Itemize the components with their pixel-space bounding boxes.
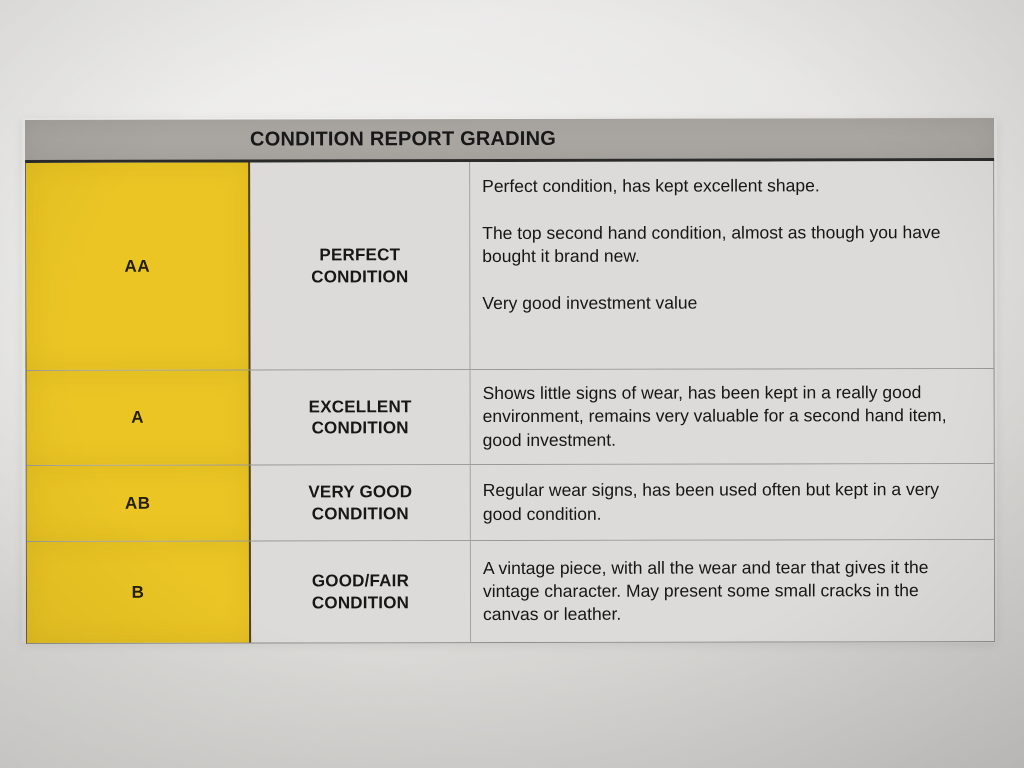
condition-label: GOOD/FAIRCONDITION [312, 570, 409, 613]
description-cell-b: A vintage piece, with all the wear and t… [471, 540, 994, 642]
table-header: CONDITION REPORT GRADING [25, 118, 994, 163]
table-row: AA PERFECTCONDITION Perfect condition, h… [26, 161, 993, 371]
description-paragraph: The top second hand condition, almost as… [482, 221, 977, 268]
condition-cell-a: EXCELLENTCONDITION [251, 370, 471, 464]
description-cell-aa: Perfect condition, has kept excellent sh… [470, 161, 993, 369]
condition-cell-aa: PERFECTCONDITION [250, 162, 470, 369]
description-cell-ab: Regular wear signs, has been used often … [471, 464, 994, 540]
table-body: AA PERFECTCONDITION Perfect condition, h… [25, 161, 995, 644]
condition-label-line1: EXCELLENT [309, 397, 412, 416]
table-row: A EXCELLENTCONDITION Shows little signs … [27, 369, 994, 466]
grade-label: AA [125, 256, 151, 276]
description-paragraph: Regular wear signs, has been used often … [483, 478, 978, 525]
condition-label: EXCELLENTCONDITION [309, 396, 412, 439]
condition-label-line1: GOOD/FAIR [312, 571, 409, 590]
condition-label-line1: VERY GOOD [308, 482, 412, 501]
condition-label-line2: CONDITION [312, 504, 409, 523]
condition-label: VERY GOODCONDITION [308, 481, 412, 524]
grade-cell-aa: AA [26, 163, 250, 370]
description-paragraph: Very good investment value [482, 291, 977, 315]
condition-label-line1: PERFECT [319, 245, 400, 264]
page-title: CONDITION REPORT GRADING [250, 127, 556, 151]
description-cell-a: Shows little signs of wear, has been kep… [471, 369, 994, 464]
condition-label-line2: CONDITION [312, 418, 409, 437]
grade-cell-ab: AB [27, 466, 251, 541]
grade-cell-a: A [27, 371, 251, 465]
grade-label: AB [125, 493, 151, 513]
condition-label-line2: CONDITION [312, 593, 409, 612]
description-paragraph: A vintage piece, with all the wear and t… [483, 556, 978, 626]
description-paragraph: Perfect condition, has kept excellent sh… [482, 174, 977, 198]
grade-cell-b: B [27, 542, 251, 643]
description-paragraph: Shows little signs of wear, has been kep… [483, 381, 978, 451]
condition-label-line2: CONDITION [311, 267, 408, 286]
condition-label: PERFECTCONDITION [311, 244, 408, 287]
condition-report-grading-table: CONDITION REPORT GRADING AA PERFECTCONDI… [25, 118, 995, 644]
grade-label: B [132, 582, 145, 602]
table-row: AB VERY GOODCONDITION Regular wear signs… [27, 464, 994, 542]
condition-cell-ab: VERY GOODCONDITION [251, 465, 471, 540]
table-row: B GOOD/FAIRCONDITION A vintage piece, wi… [27, 540, 994, 643]
condition-cell-b: GOOD/FAIRCONDITION [251, 541, 471, 642]
grade-label: A [131, 408, 144, 428]
